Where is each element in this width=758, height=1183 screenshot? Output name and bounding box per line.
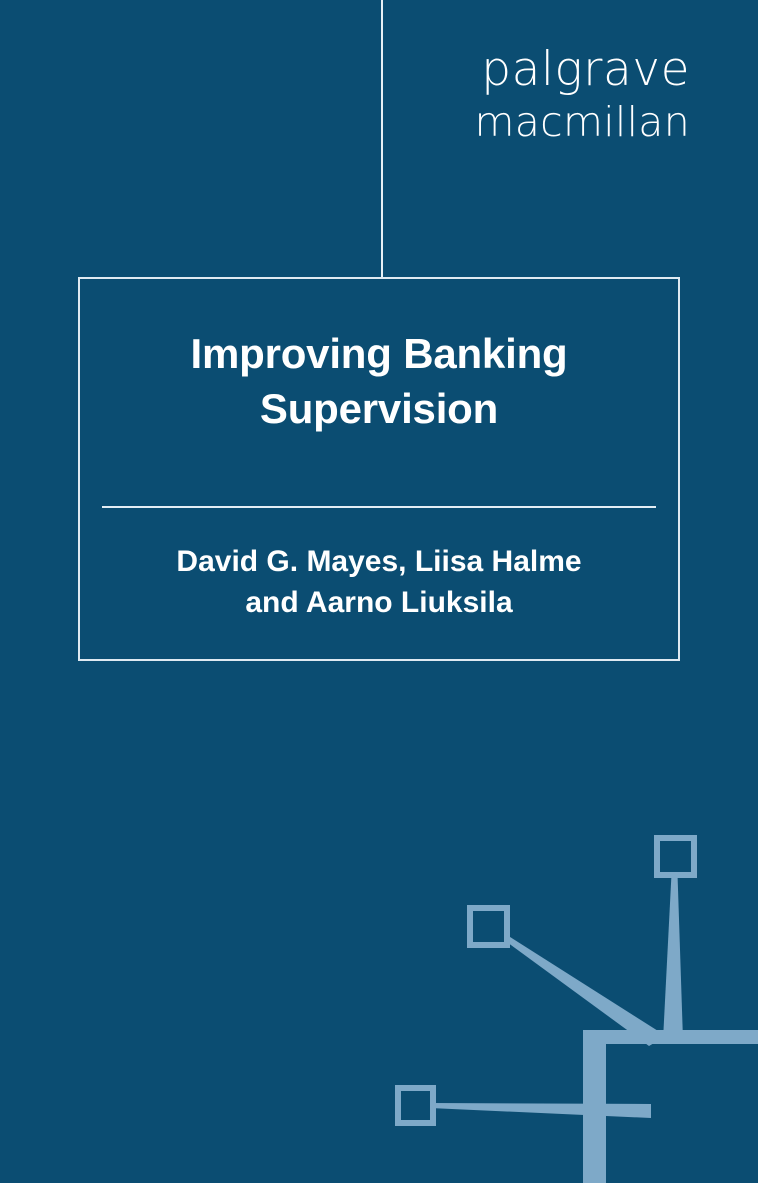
connector-line-top — [663, 874, 683, 1040]
vertical-rule-divider — [381, 0, 383, 278]
title-frame: Improving Banking Supervision David G. M… — [78, 277, 680, 661]
book-cover: palgrave macmillan Improving Banking Sup… — [0, 0, 758, 1183]
node-square-bottom-left — [398, 1088, 433, 1123]
hub-bar — [583, 1030, 758, 1044]
connector-line-bottom — [430, 1103, 651, 1118]
publisher-logo: palgrave macmillan — [400, 46, 690, 143]
publisher-name-palgrave: palgrave — [400, 46, 690, 93]
large-rectangle-top-edge — [593, 1030, 758, 1043]
page-title: Improving Banking Supervision — [80, 327, 678, 436]
author-names: David G. Mayes, Liisa Halme and Aarno Li… — [80, 541, 678, 623]
publisher-name-macmillan: macmillan — [400, 102, 690, 143]
title-author-divider — [102, 506, 656, 508]
hub-post — [583, 1030, 603, 1183]
node-square-top-right — [657, 838, 694, 875]
author-line-1: David G. Mayes, Liisa Halme — [106, 541, 652, 582]
connector-line-diagonal — [504, 936, 666, 1046]
title-line-1: Improving Banking — [106, 327, 652, 382]
node-square-middle-left — [470, 908, 507, 945]
title-line-2: Supervision — [106, 382, 652, 437]
large-rectangle-left-edge — [593, 1030, 606, 1183]
large-rectangle-frame — [593, 1030, 758, 1183]
author-line-2: and Aarno Liuksila — [106, 582, 652, 623]
